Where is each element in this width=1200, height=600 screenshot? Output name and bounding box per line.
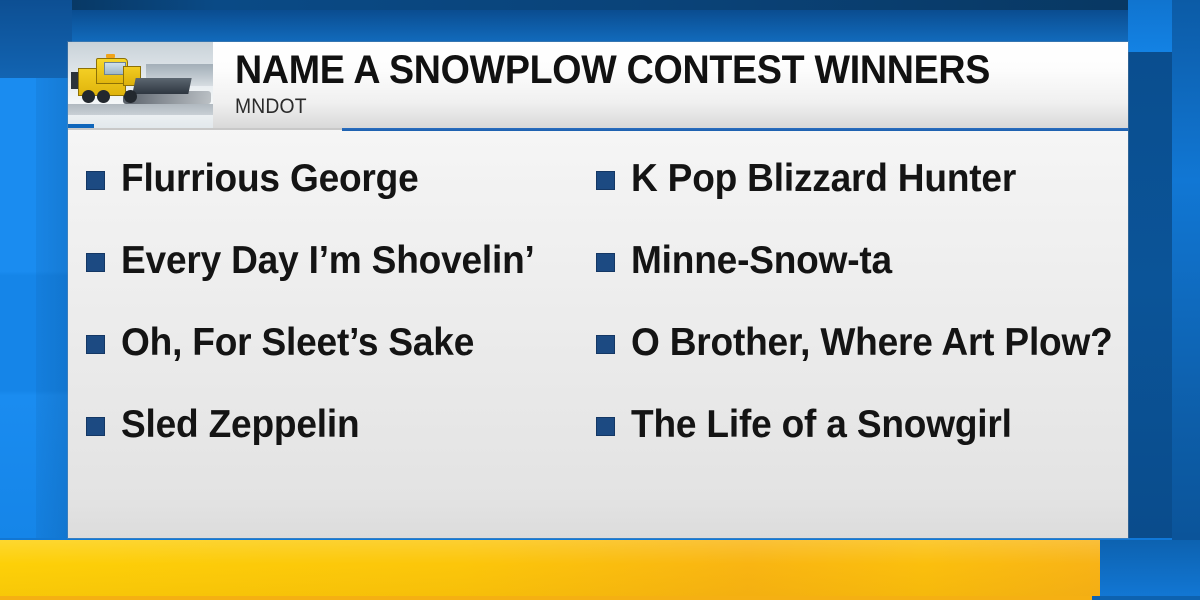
photo-plow-blade [132, 78, 191, 94]
background-yellow-sheen [0, 540, 1100, 600]
photo-truck-wheel [124, 90, 137, 103]
square-bullet-icon [86, 253, 105, 272]
winners-column-left: Flurrious George Every Day I’m Shovelin’… [86, 138, 606, 466]
list-item: K Pop Blizzard Hunter [596, 138, 1126, 220]
square-bullet-icon [596, 335, 615, 354]
list-item: Every Day I’m Shovelin’ [86, 220, 606, 302]
square-bullet-icon [86, 335, 105, 354]
content-panel: NAME A SNOWPLOW CONTEST WINNERS MNDOT Fl… [68, 42, 1128, 538]
panel-header: NAME A SNOWPLOW CONTEST WINNERS MNDOT [68, 42, 1128, 128]
square-bullet-icon [596, 171, 615, 190]
list-item-label: Minne-Snow-ta [631, 240, 892, 282]
list-item-label: Oh, For Sleet’s Sake [121, 322, 474, 364]
list-item: Flurrious George [86, 138, 606, 220]
list-item-label: The Life of a Snowgirl [631, 404, 1012, 446]
list-item: The Life of a Snowgirl [596, 384, 1126, 466]
header-underline-gray [68, 128, 342, 130]
list-item: O Brother, Where Art Plow? [596, 302, 1126, 384]
square-bullet-icon [86, 417, 105, 436]
list-item: Sled Zeppelin [86, 384, 606, 466]
square-bullet-icon [86, 171, 105, 190]
background-top-dark-strip [0, 0, 1200, 10]
photo-road [68, 104, 213, 115]
list-item-label: O Brother, Where Art Plow? [631, 322, 1113, 364]
header-divider-line [342, 128, 1128, 131]
photo-truck-beacon [106, 54, 115, 58]
square-bullet-icon [596, 417, 615, 436]
list-item-label: Sled Zeppelin [121, 404, 359, 446]
winners-column-right: K Pop Blizzard Hunter Minne-Snow-ta O Br… [596, 138, 1126, 466]
broadcast-graphic-stage: NAME A SNOWPLOW CONTEST WINNERS MNDOT Fl… [0, 0, 1200, 600]
background-left-column-shade [36, 78, 72, 538]
background-block-top-left [0, 0, 72, 78]
square-bullet-icon [596, 253, 615, 272]
background-right-edge-column [1172, 0, 1200, 600]
list-item-label: K Pop Blizzard Hunter [631, 158, 1016, 200]
snowplow-truck-photo [68, 42, 213, 128]
background-block-right-dark [1128, 52, 1172, 538]
background-bottom-right-block [1100, 540, 1200, 600]
list-item: Minne-Snow-ta [596, 220, 1126, 302]
title-bar: NAME A SNOWPLOW CONTEST WINNERS MNDOT [213, 42, 1128, 128]
list-item-label: Every Day I’m Shovelin’ [121, 240, 535, 282]
list-item: Oh, For Sleet’s Sake [86, 302, 606, 384]
background-block-top-right [1128, 0, 1172, 52]
photo-truck-wheel [97, 90, 110, 103]
winners-list: Flurrious George Every Day I’m Shovelin’… [68, 138, 1128, 538]
list-item-label: Flurrious George [121, 158, 419, 200]
page-title: NAME A SNOWPLOW CONTEST WINNERS [235, 46, 1074, 94]
page-subtitle: MNDOT [235, 95, 1057, 119]
background-bottom-strip [0, 596, 1200, 600]
photo-truck-wheel [82, 90, 95, 103]
